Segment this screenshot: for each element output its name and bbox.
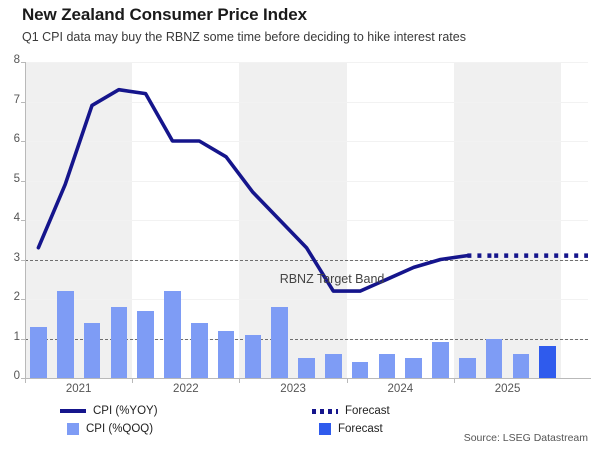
- x-axis-label-2022: 2022: [156, 383, 216, 395]
- y-axis-label-6: 6: [4, 133, 20, 145]
- legend-label: Forecast: [338, 423, 383, 435]
- x-axis-label-2021: 2021: [49, 383, 109, 395]
- y-tick-2: [21, 299, 25, 300]
- x-axis-label-2023: 2023: [263, 383, 323, 395]
- y-tick-1: [21, 339, 25, 340]
- dotted-line-icon: [312, 409, 338, 414]
- y-axis-label-2: 2: [4, 291, 20, 303]
- legend-item-cpi-yoy: CPI (%YOY): [60, 405, 158, 417]
- y-tick-7: [21, 102, 25, 103]
- legend-label: CPI (%QOQ): [86, 423, 153, 435]
- y-axis-label-7: 7: [4, 94, 20, 106]
- x-tick-2022: [132, 378, 133, 383]
- x-tick-2024: [347, 378, 348, 383]
- y-tick-6: [21, 141, 25, 142]
- y-axis-label-8: 8: [4, 54, 20, 66]
- legend-label: Forecast: [345, 405, 390, 417]
- y-axis-label-1: 1: [4, 331, 20, 343]
- source-attribution: Source: LSEG Datastream: [464, 432, 588, 444]
- solid-line-icon: [60, 409, 86, 413]
- x-axis-line: [25, 378, 591, 379]
- y-tick-4: [21, 220, 25, 221]
- y-tick-5: [21, 181, 25, 182]
- x-axis-label-2024: 2024: [370, 383, 430, 395]
- bar-swatch-forecast-icon: [319, 423, 331, 435]
- cpi-yoy-actual-line: [38, 90, 467, 291]
- chart-subtitle: Q1 CPI data may buy the RBNZ some time b…: [22, 30, 466, 44]
- rbnz-target-band-label: RBNZ Target Band: [280, 272, 385, 286]
- chart-container: New Zealand Consumer Price Index Q1 CPI …: [0, 0, 600, 449]
- x-tick-2023: [239, 378, 240, 383]
- y-tick-8: [21, 62, 25, 63]
- x-tick-2025: [454, 378, 455, 383]
- plot-area: RBNZ Target Band: [25, 62, 588, 378]
- line-series: [25, 62, 588, 378]
- x-tick-2021: [25, 378, 26, 383]
- bar-swatch-icon: [67, 423, 79, 435]
- legend-item-forecast-line: Forecast: [312, 405, 390, 417]
- y-axis-line: [25, 62, 26, 379]
- legend-label: CPI (%YOY): [93, 405, 158, 417]
- y-axis-label-5: 5: [4, 173, 20, 185]
- y-axis-label-3: 3: [4, 252, 20, 264]
- page-title: New Zealand Consumer Price Index: [22, 5, 307, 25]
- y-tick-3: [21, 260, 25, 261]
- legend-item-forecast-bar: Forecast: [312, 423, 383, 435]
- y-axis-label-4: 4: [4, 212, 20, 224]
- x-axis-label-2025: 2025: [478, 383, 538, 395]
- y-axis-label-0: 0: [4, 370, 20, 382]
- legend-item-cpi-qoq: CPI (%QOQ): [60, 423, 153, 435]
